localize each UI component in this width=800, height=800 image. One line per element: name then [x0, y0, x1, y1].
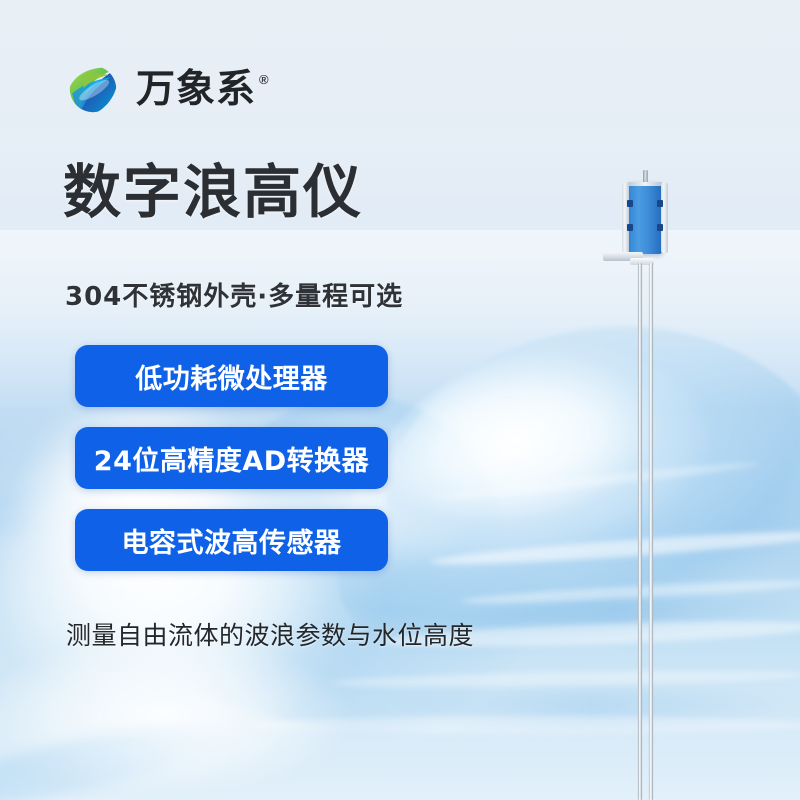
sensor-head-top-cap: [627, 182, 663, 186]
sensor-port: [627, 200, 633, 207]
probe-rod-right: [649, 263, 653, 800]
sensor-head-body: [627, 182, 663, 254]
feature-badge-24bit-adc[interactable]: 24位高精度AD转换器: [75, 427, 388, 489]
sensor-port: [657, 224, 663, 231]
sensor-port: [627, 224, 633, 231]
feature-badge-list: 低功耗微处理器 24位高精度AD转换器 电容式波高传感器: [75, 345, 388, 571]
product-image-wave-gauge: [600, 170, 720, 800]
feature-badge-capacitive-sensor[interactable]: 电容式波高传感器: [75, 509, 388, 571]
page-title: 数字浪高仪: [63, 162, 363, 223]
registered-trademark-icon: ®: [259, 72, 269, 87]
product-poster: 万象系 ® 数字浪高仪 304不锈钢外壳·多量程可选 低功耗微处理器 24位高精…: [0, 0, 800, 800]
brand-name-text: 万象系: [136, 70, 256, 109]
page-subtitle: 304不锈钢外壳·多量程可选: [65, 276, 403, 313]
product-description: 测量自由流体的波浪参数与水位高度: [66, 616, 474, 652]
feature-badge-low-power-mcu[interactable]: 低功耗微处理器: [75, 345, 388, 407]
sensor-head-rail-left: [622, 183, 629, 253]
brand-logo: 万象系 ®: [64, 60, 269, 118]
brand-name-wordmark: 万象系 ®: [136, 70, 269, 109]
sensor-head: [622, 182, 668, 254]
probe-rod-left: [638, 263, 642, 800]
swirl-globe-icon: [64, 60, 122, 118]
sensor-head-rail-right: [661, 183, 668, 253]
sensor-port: [657, 200, 663, 207]
